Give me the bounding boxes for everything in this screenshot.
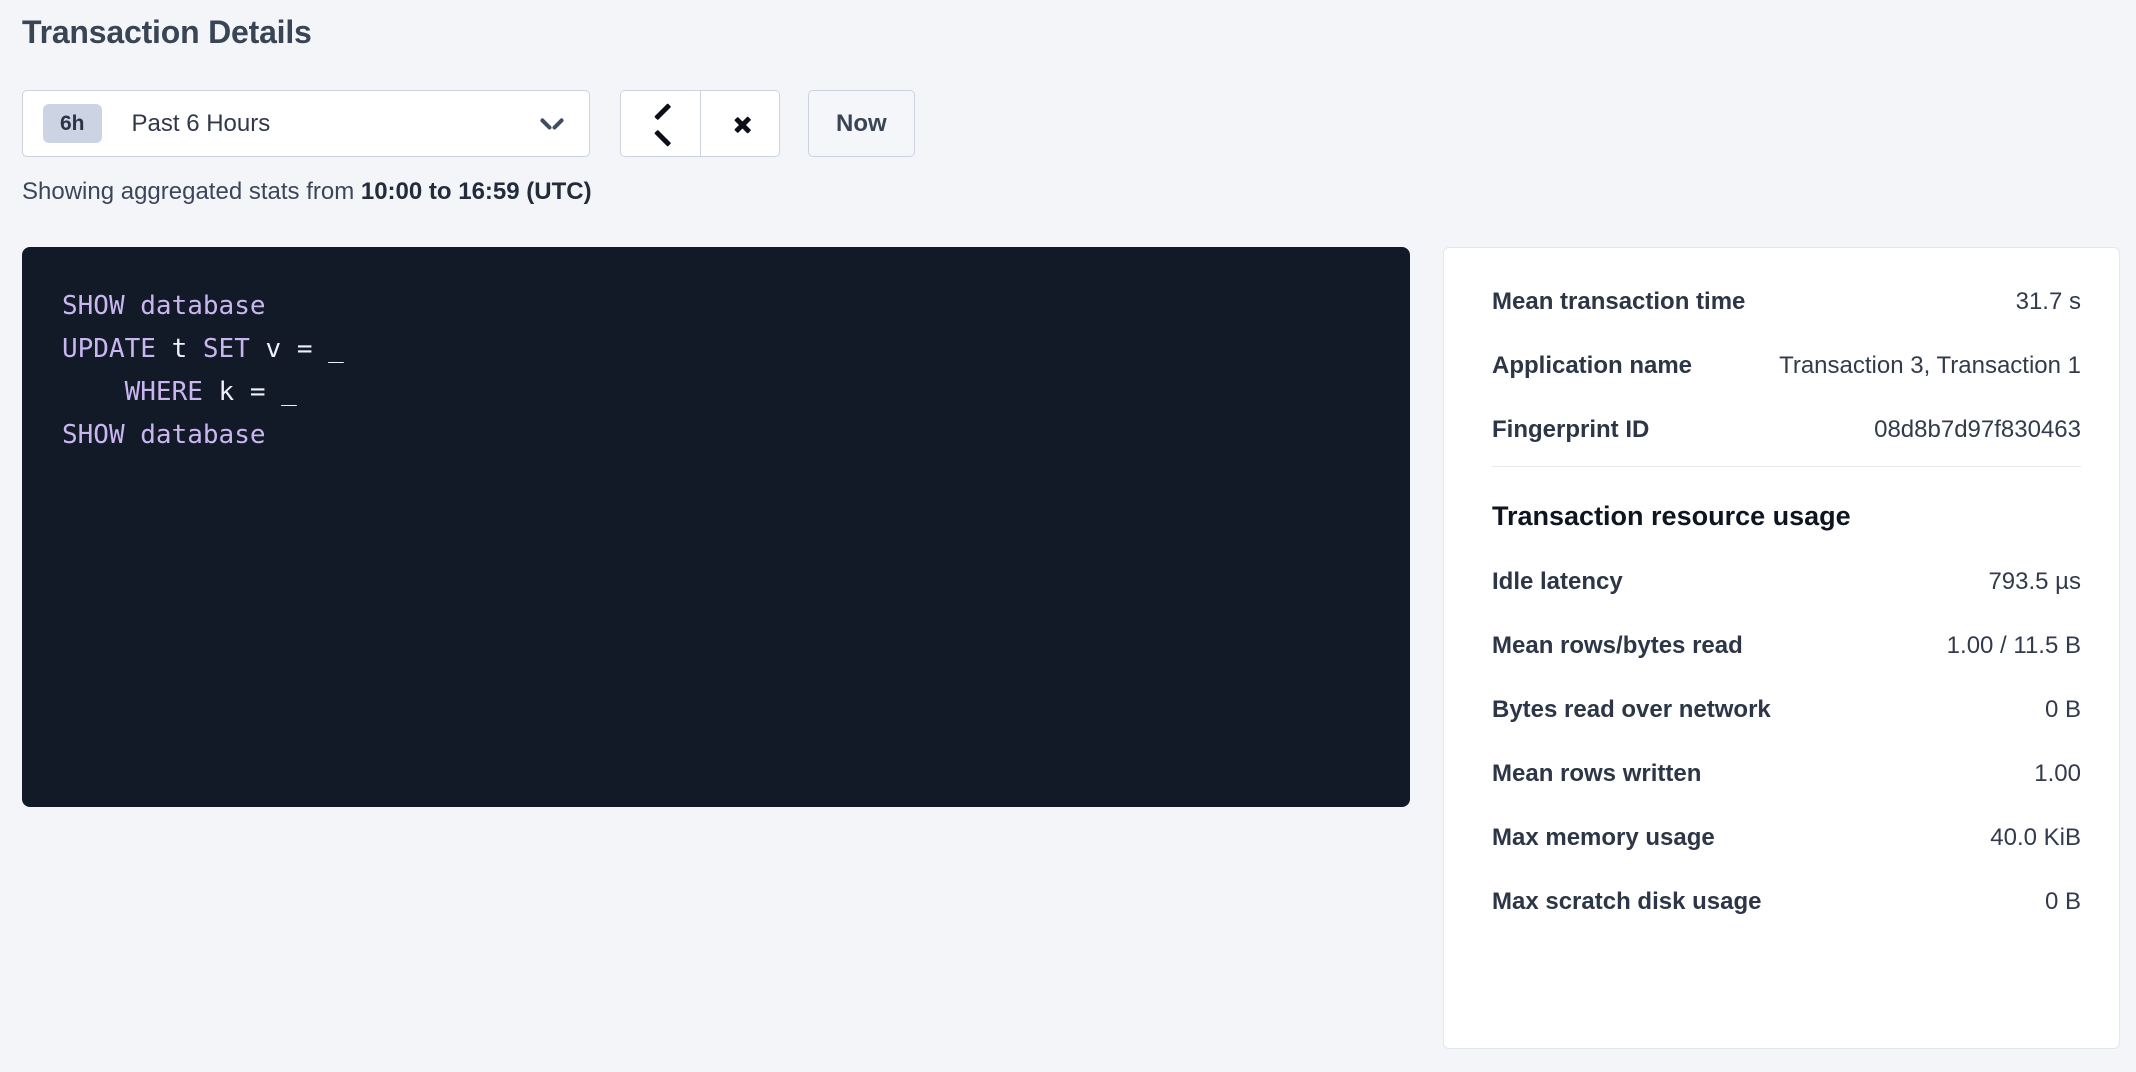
stat-label: Bytes read over network — [1492, 696, 1771, 724]
sql-line: SHOW database — [62, 414, 1370, 457]
next-period-button[interactable] — [700, 91, 779, 156]
page-title: Transaction Details — [22, 14, 312, 51]
stat-row: Application nameTransaction 3, Transacti… — [1492, 352, 2081, 380]
aggregation-range-prefix: Showing aggregated stats from — [22, 178, 361, 205]
stat-row: Bytes read over network0 B — [1492, 696, 2081, 724]
chevron-down-icon — [541, 117, 563, 130]
aggregation-range-value: 10:00 to 16:59 (UTC) — [361, 178, 592, 205]
section-divider — [1492, 466, 2081, 467]
sql-keyword: WHERE — [125, 377, 203, 407]
sql-identifier: k = _ — [203, 377, 297, 407]
stat-value: 0 B — [2029, 888, 2081, 916]
aggregation-range-note: Showing aggregated stats from 10:00 to 1… — [22, 178, 592, 206]
sql-line: SHOW database — [62, 285, 1370, 328]
stat-label: Mean rows written — [1492, 760, 1701, 788]
resource-usage-list: Idle latency793.5 µsMean rows/bytes read… — [1492, 568, 2081, 916]
sql-identifier: t — [156, 334, 203, 364]
stat-value: Transaction 3, Transaction 1 — [1763, 352, 2081, 380]
resource-usage-heading: Transaction resource usage — [1492, 501, 2081, 532]
stat-label: Mean rows/bytes read — [1492, 632, 1743, 660]
stat-row: Mean rows written1.00 — [1492, 760, 2081, 788]
stat-value: 08d8b7d97f830463 — [1858, 416, 2081, 444]
sql-identifier: v = _ — [250, 334, 344, 364]
time-nav-group — [620, 90, 780, 157]
sql-statement-panel: SHOW databaseUPDATE t SET v = _ WHERE k … — [22, 247, 1410, 807]
now-button[interactable]: Now — [808, 90, 915, 157]
sql-keyword: UPDATE — [62, 334, 156, 364]
sql-line: WHERE k = _ — [62, 371, 1370, 414]
sql-keyword: SHOW — [62, 420, 125, 450]
stat-label: Mean transaction time — [1492, 288, 1745, 316]
previous-period-button[interactable] — [621, 91, 700, 156]
stat-value: 1.00 — [2018, 760, 2081, 788]
stat-row: Idle latency793.5 µs — [1492, 568, 2081, 596]
sql-identifier — [125, 420, 141, 450]
time-range-badge: 6h — [43, 104, 102, 143]
stat-value: 40.0 KiB — [1974, 824, 2081, 852]
sql-keyword: database — [140, 291, 265, 321]
sql-keyword: database — [140, 420, 265, 450]
sql-line: UPDATE t SET v = _ — [62, 328, 1370, 371]
stat-label: Idle latency — [1492, 568, 1623, 596]
stat-label: Application name — [1492, 352, 1692, 380]
chevron-left-icon — [653, 110, 668, 138]
stat-row: Mean transaction time31.7 s — [1492, 288, 2081, 316]
time-range-label: Past 6 Hours — [132, 110, 541, 138]
toolbar: 6h Past 6 Hours Now — [22, 90, 915, 157]
stat-row: Max memory usage40.0 KiB — [1492, 824, 2081, 852]
time-range-select[interactable]: 6h Past 6 Hours — [22, 90, 590, 157]
sql-identifier — [62, 377, 125, 407]
stat-value: 31.7 s — [2000, 288, 2081, 316]
transaction-stats-card: Mean transaction time31.7 sApplication n… — [1443, 247, 2120, 1049]
transaction-details-page: Transaction Details 6h Past 6 Hours Now … — [0, 0, 2136, 1072]
stat-row: Fingerprint ID08d8b7d97f830463 — [1492, 416, 2081, 444]
stat-label: Max memory usage — [1492, 824, 1715, 852]
stat-row: Mean rows/bytes read1.00 / 11.5 B — [1492, 632, 2081, 660]
stat-row: Max scratch disk usage0 B — [1492, 888, 2081, 916]
stat-value: 0 B — [2029, 696, 2081, 724]
transaction-summary-list: Mean transaction time31.7 sApplication n… — [1492, 288, 2081, 444]
sql-keyword: SET — [203, 334, 250, 364]
chevron-right-icon — [733, 110, 748, 138]
stat-value: 793.5 µs — [1972, 568, 2081, 596]
stat-value: 1.00 / 11.5 B — [1931, 632, 2081, 660]
sql-identifier — [125, 291, 141, 321]
stat-label: Max scratch disk usage — [1492, 888, 1761, 916]
sql-keyword: SHOW — [62, 291, 125, 321]
stat-label: Fingerprint ID — [1492, 416, 1649, 444]
sql-statement-text: SHOW databaseUPDATE t SET v = _ WHERE k … — [62, 285, 1370, 457]
